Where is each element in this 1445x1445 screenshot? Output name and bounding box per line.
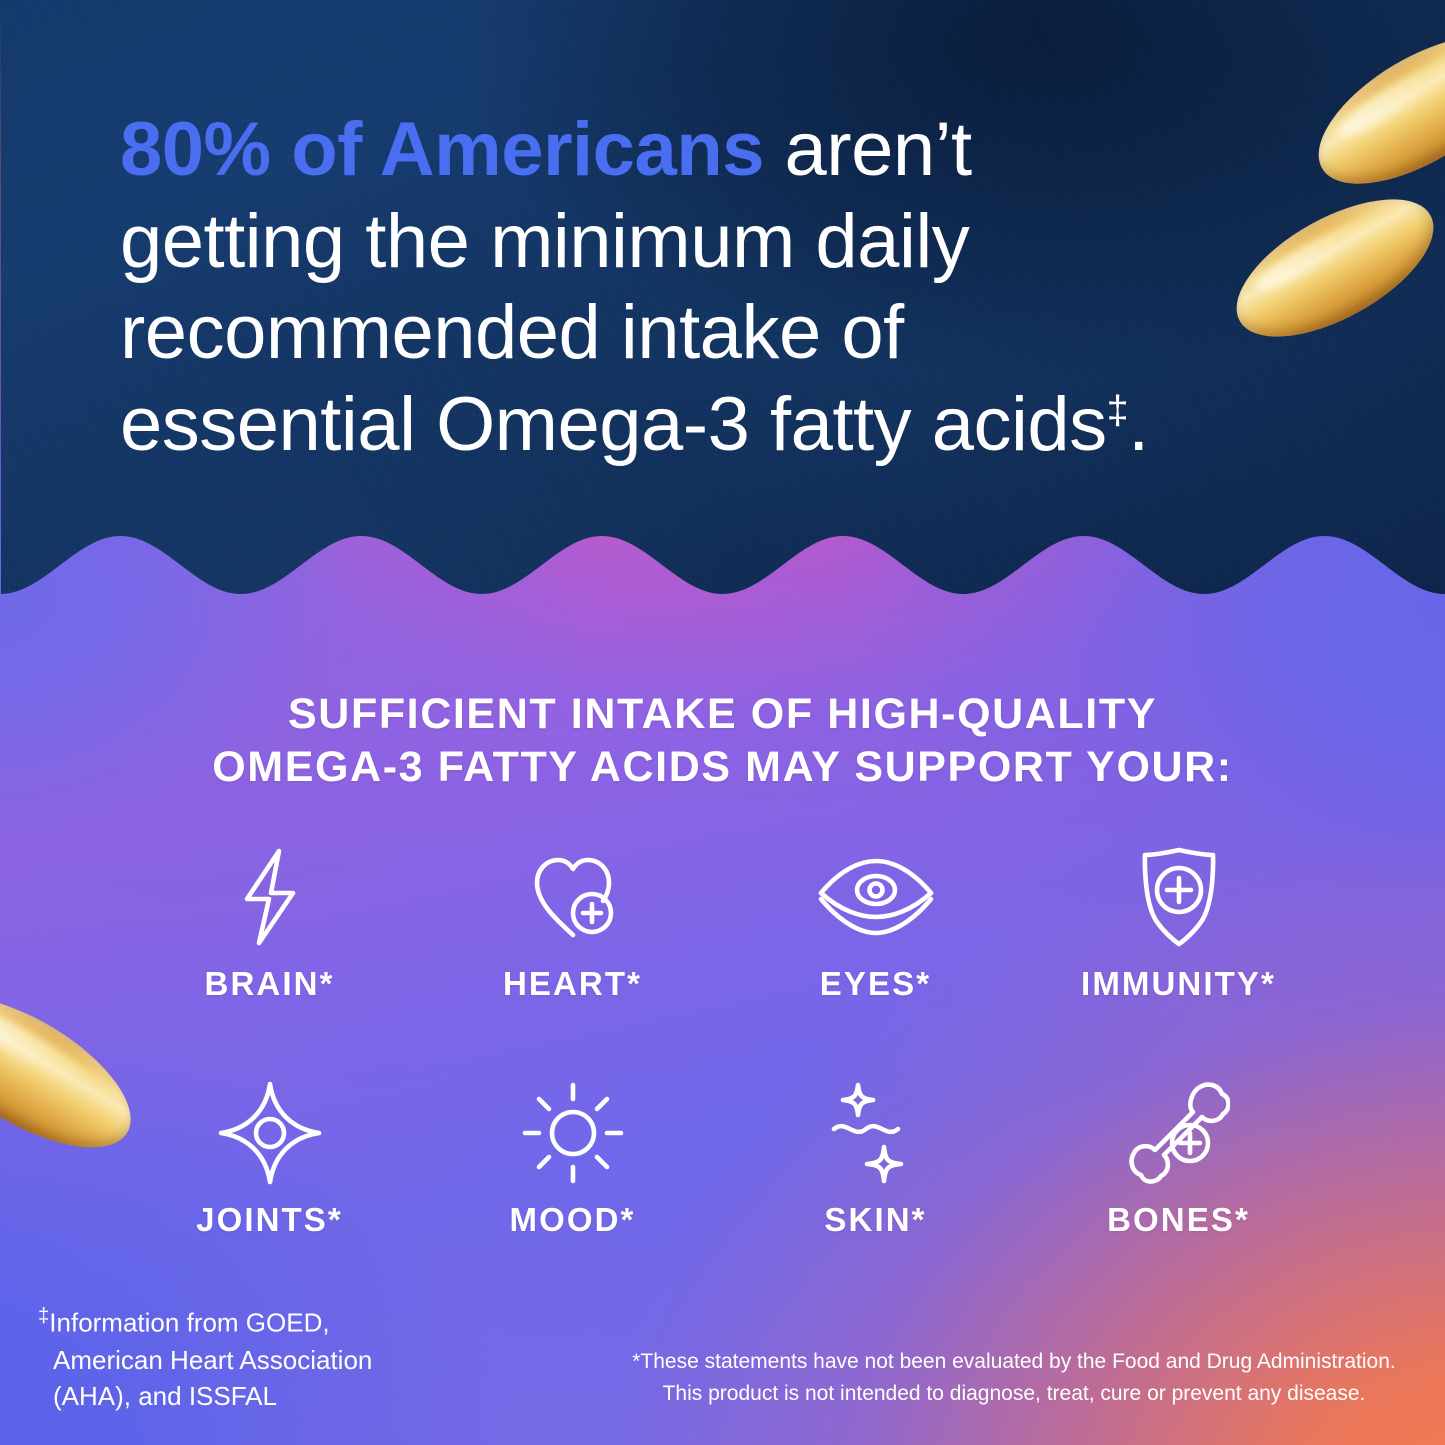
benefit-label: BONES* xyxy=(1107,1201,1250,1239)
footnote-sources-line1: ‡Information from GOED, xyxy=(38,1302,468,1342)
sun-icon xyxy=(521,1081,625,1185)
benefit-label: BRAIN* xyxy=(205,965,335,1003)
benefit-label: SKIN* xyxy=(824,1201,926,1239)
infographic-canvas: 80% of Americans aren’t getting the mini… xyxy=(0,0,1445,1445)
benefit-item-eyes: EYES* xyxy=(724,845,1027,1003)
benefit-label: JOINTS* xyxy=(196,1201,343,1239)
footnote-sources-line2: American Heart Association xyxy=(38,1342,468,1379)
benefit-grid: BRAIN* HEART* EYES* xyxy=(118,845,1330,1239)
shield-plus-icon xyxy=(1135,845,1223,949)
heart-plus-icon xyxy=(525,845,621,949)
skin-sparkle-wave-icon xyxy=(824,1081,928,1185)
headline: 80% of Americans aren’t getting the mini… xyxy=(120,104,1310,470)
benefit-item-bones: BONES* xyxy=(1027,1081,1330,1239)
headline-accent-stat: 80% of Americans xyxy=(120,107,764,192)
headline-line3: recommended intake of xyxy=(120,290,904,375)
benefit-item-heart: HEART* xyxy=(421,845,724,1003)
footnote-sources-text1: Information from GOED, xyxy=(49,1308,329,1338)
lightning-bolt-icon xyxy=(227,845,313,949)
benefit-item-brain: BRAIN* xyxy=(118,845,421,1003)
benefit-label: EYES* xyxy=(820,965,931,1003)
bone-plus-icon xyxy=(1128,1081,1230,1185)
headline-line4-period: . xyxy=(1128,382,1149,467)
fda-disclaimer: *These statements have not been evaluate… xyxy=(600,1346,1428,1410)
benefit-item-joints: JOINTS* xyxy=(118,1081,421,1239)
headline-footnote-marker: ‡ xyxy=(1107,388,1128,432)
four-point-star-icon xyxy=(218,1081,322,1185)
benefit-label: HEART* xyxy=(503,965,642,1003)
section-heading-line2: OMEGA-3 FATTY ACIDS MAY SUPPORT YOUR: xyxy=(212,743,1232,791)
footnote-sources: ‡Information from GOED, American Heart A… xyxy=(38,1302,468,1415)
benefit-label: MOOD* xyxy=(510,1201,636,1239)
section-heading-line1: SUFFICIENT INTAKE OF HIGH-QUALITY xyxy=(288,690,1157,738)
benefit-item-mood: MOOD* xyxy=(421,1081,724,1239)
double-dagger-marker: ‡ xyxy=(38,1305,49,1327)
eye-icon xyxy=(813,845,939,949)
benefit-label: IMMUNITY* xyxy=(1081,965,1276,1003)
section-heading: SUFFICIENT INTAKE OF HIGH-QUALITY OMEGA-… xyxy=(0,688,1445,794)
benefit-item-immunity: IMMUNITY* xyxy=(1027,845,1330,1003)
headline-line2: getting the minimum daily xyxy=(120,199,969,284)
benefit-item-skin: SKIN* xyxy=(724,1081,1027,1239)
headline-line4: essential Omega-3 fatty acids xyxy=(120,382,1107,467)
headline-line1-rest: aren’t xyxy=(764,107,972,192)
fda-disclaimer-line2: This product is not intended to diagnose… xyxy=(600,1378,1428,1410)
fda-disclaimer-line1: *These statements have not been evaluate… xyxy=(600,1346,1428,1378)
footnote-sources-line3: (AHA), and ISSFAL xyxy=(38,1378,468,1415)
